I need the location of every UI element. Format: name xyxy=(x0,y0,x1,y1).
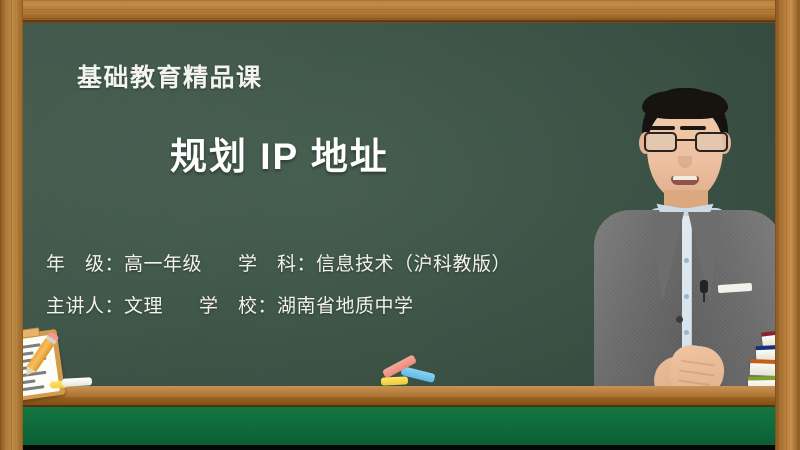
presenter-teeth xyxy=(673,176,697,180)
presenter-value: 文理 xyxy=(124,285,163,327)
lower-wall xyxy=(0,407,800,445)
lesson-title: 规划 IP 地址 xyxy=(170,126,389,180)
glasses-bridge xyxy=(677,139,695,141)
meta-row: 主讲人：文理学 校：湖南省地质中学 xyxy=(46,285,511,327)
bottom-letterbox-bar xyxy=(0,445,800,450)
presenter-eyebrow-right xyxy=(680,126,706,130)
microphone-cable xyxy=(703,292,705,302)
finger-line xyxy=(681,360,715,366)
subject-value: 信息技术（沪科教版） xyxy=(316,243,511,285)
frame-right xyxy=(775,0,800,450)
meta-row: 年 级：高一年级学 科：信息技术（沪科教版） xyxy=(46,243,511,285)
eyeglasses-icon xyxy=(642,132,730,152)
blazer-button xyxy=(676,316,683,323)
chalk-stick-yellow xyxy=(381,376,408,385)
grade-label: 年 级： xyxy=(46,243,124,285)
lesson-metadata: 年 级：高一年级学 科：信息技术（沪科教版） 主讲人：文理学 校：湖南省地质中学 xyxy=(46,243,511,327)
lesson-title-card: 基础教育精品课 规划 IP 地址 年 级：高一年级学 科：信息技术（沪科教版） … xyxy=(0,0,800,450)
chalk-ledge-front xyxy=(0,397,800,407)
course-program-header: 基础教育精品课 xyxy=(77,58,263,94)
subject-label: 学 科： xyxy=(238,243,316,285)
presenter-eyebrow-left xyxy=(649,126,675,130)
chalk-stick-white xyxy=(62,377,92,387)
shirt-button xyxy=(684,330,689,335)
lens-left xyxy=(644,132,677,152)
frame-left xyxy=(0,0,23,450)
school-label: 学 校： xyxy=(199,285,277,327)
presenter-fringe xyxy=(642,91,728,119)
finger-line xyxy=(678,380,710,386)
frame-top xyxy=(0,0,800,23)
presenter-label: 主讲人： xyxy=(46,285,124,327)
chalk-ledge-top xyxy=(0,386,800,397)
blazer-lapel-left xyxy=(652,212,684,304)
lens-right xyxy=(695,132,728,152)
grade-value: 高一年级 xyxy=(124,243,202,285)
school-value: 湖南省地质中学 xyxy=(277,285,414,327)
finger-line xyxy=(679,369,715,376)
